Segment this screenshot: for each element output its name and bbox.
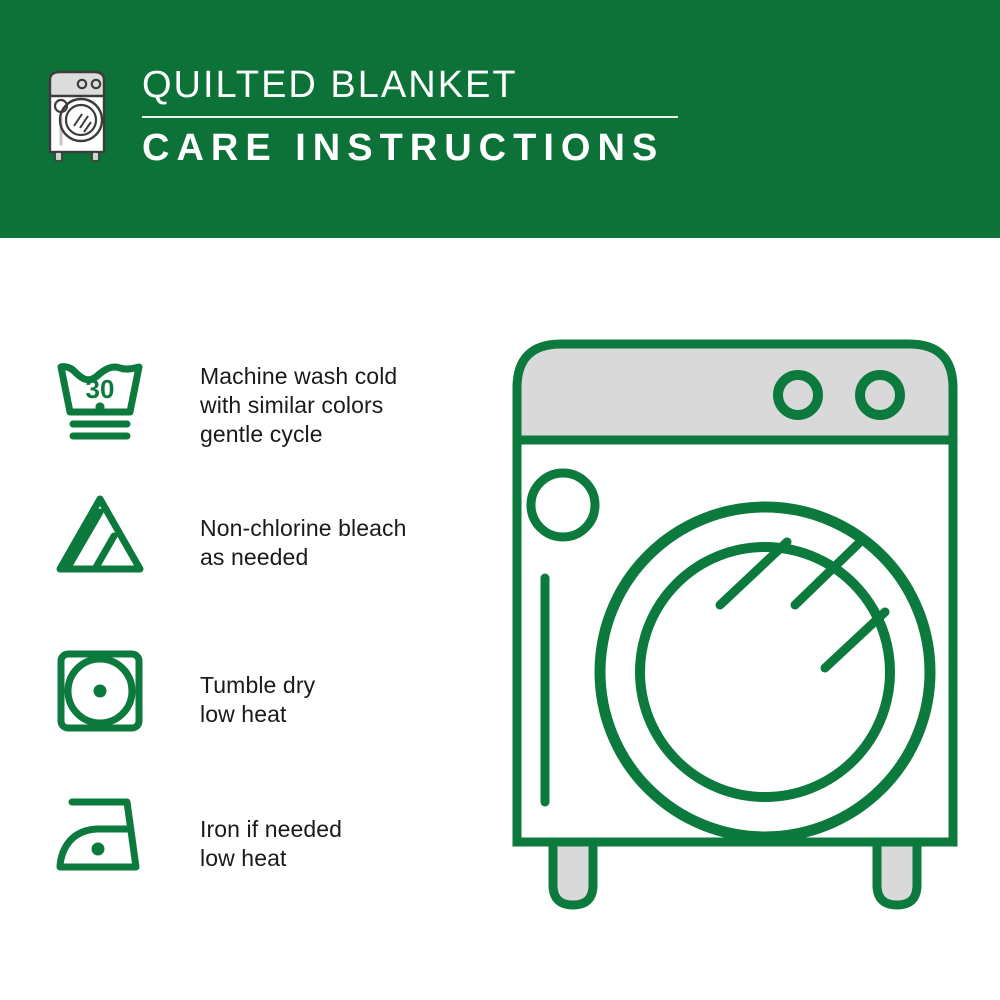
care-text-bleach: Non-chlorine bleach as needed [200,486,406,572]
machine-leg-right [877,842,917,905]
non-chlorine-bleach-triangle-icon [52,486,148,582]
machine-wash-30-gentle-icon: 30 [52,346,148,442]
page-header: QUILTED BLANKET CARE INSTRUCTIONS [0,0,1000,238]
wash-temperature-label: 30 [86,374,115,404]
page-subtitle: CARE INSTRUCTIONS [142,127,678,169]
care-row-machine-wash: 30 Machine wash cold with similar colors… [52,346,397,449]
washing-machine-illustration [495,330,975,930]
iron-low-heat-icon [52,793,148,879]
care-row-iron: Iron if needed low heat [52,793,342,879]
machine-leg-left [553,842,593,905]
care-row-bleach: Non-chlorine bleach as needed [52,486,406,582]
care-instructions-page: QUILTED BLANKET CARE INSTRUCTIONS 30 Mac… [0,0,1000,1000]
tumble-dry-low-heat-icon [52,643,148,739]
page-title: QUILTED BLANKET [142,64,678,106]
header-content: QUILTED BLANKET CARE INSTRUCTIONS [44,62,678,169]
washing-machine-logo-icon [44,62,116,166]
care-instruction-list: 30 Machine wash cold with similar colors… [0,238,470,1000]
title-block: QUILTED BLANKET CARE INSTRUCTIONS [142,62,678,169]
title-divider [142,116,678,118]
care-row-tumble-dry: Tumble dry low heat [52,643,315,739]
care-text-iron: Iron if needed low heat [200,793,342,873]
care-text-tumble-dry: Tumble dry low heat [200,643,315,729]
control-panel [517,344,953,440]
care-text-machine-wash: Machine wash cold with similar colors ge… [200,346,397,449]
